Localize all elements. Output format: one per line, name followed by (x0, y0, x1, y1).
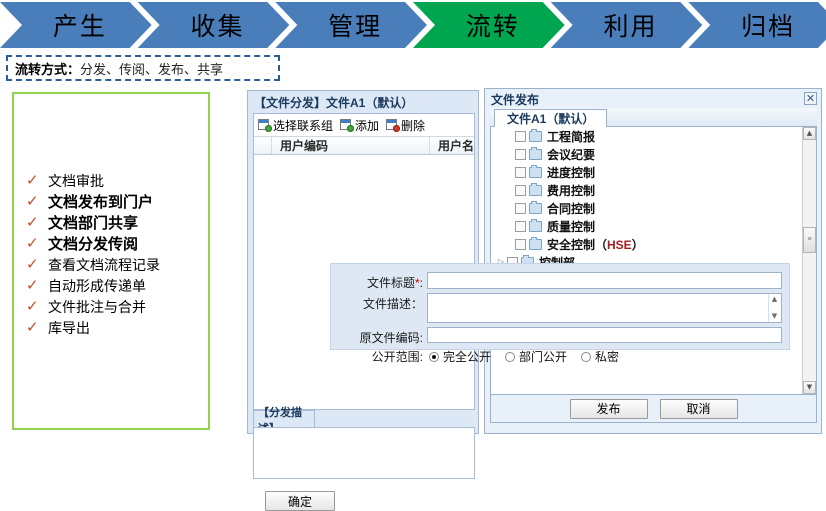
scroll-down-icon[interactable]: ▼ (803, 381, 816, 394)
check-icon: ✓ (26, 173, 48, 188)
source-file-code-label: 原文件编码: (337, 327, 423, 346)
toolbar-add-button[interactable]: 添加 (340, 117, 379, 134)
feature-item: ✓文档发布到门户 (26, 191, 204, 212)
process-step-5[interactable]: 利用 (551, 2, 703, 48)
scope-radio-label: 完全公开 (443, 348, 491, 365)
process-step-label: 归档 (741, 7, 795, 43)
tree-item[interactable]: 质量控制 (491, 217, 802, 235)
process-step-2[interactable]: 收集 (138, 2, 290, 48)
tree-item-label: 安全控制（HSE） (547, 236, 644, 253)
distribution-grid-header: 用户编码 用户名 (254, 136, 474, 155)
delete-icon (386, 119, 399, 131)
check-icon: ✓ (26, 299, 48, 314)
process-step-label: 管理 (328, 7, 382, 43)
process-step-label: 收集 (190, 7, 244, 43)
publish-tab-bar: 文件A1（默认） (490, 108, 817, 127)
close-icon[interactable]: ✕ (804, 92, 817, 105)
tree-item-label: 进度控制 (547, 164, 595, 181)
distribution-body: 选择联系组添加删除 用户编码 用户名 (253, 113, 475, 410)
scroll-up-icon[interactable]: ▲ (803, 127, 816, 140)
toolbar-select-contact-group-button[interactable]: 选择联系组 (258, 117, 333, 134)
distribution-description-label: 【分发描述】 (253, 410, 315, 428)
check-icon: ✓ (26, 320, 48, 335)
distribution-confirm-button[interactable]: 确定 (265, 491, 335, 511)
file-info-form-dialog: 文件标题*: 文件描述： ▲ ▼ 原文件编码: 公开范围: 完全公开部门公开私密 (330, 263, 790, 350)
check-icon: ✓ (26, 236, 48, 251)
toolbar-button-label: 选择联系组 (273, 117, 333, 134)
form-row-source-code: 原文件编码: (337, 327, 782, 346)
tree-item-checkbox[interactable] (515, 149, 526, 160)
process-step-label: 利用 (603, 7, 657, 43)
publish-button[interactable]: 发布 (570, 399, 648, 419)
process-step-3[interactable]: 管理 (275, 2, 427, 48)
tab-file-a1[interactable]: 文件A1（默认） (494, 109, 607, 127)
tree-item[interactable]: 进度控制 (491, 163, 802, 181)
tree-item-checkbox[interactable] (515, 167, 526, 178)
feature-item-label: 文档发布到门户 (48, 191, 153, 212)
tree-item[interactable]: 费用控制 (491, 181, 802, 199)
tree-item-label: 质量控制 (547, 218, 595, 235)
feature-item-label: 文档审批 (48, 171, 104, 191)
scope-radio-option[interactable]: 完全公开 (429, 348, 491, 365)
flow-method-note: 流转方式： 分发、传阅、发布、共享 (6, 55, 280, 81)
select-contact-group-icon (258, 119, 271, 131)
process-step-label: 流转 (466, 7, 520, 43)
folder-icon (529, 167, 542, 178)
file-description-label: 文件描述： (337, 293, 423, 312)
feature-list-box: ✓文档审批✓文档发布到门户✓文档部门共享✓文档分发传阅✓查看文档流程记录✓自动形… (12, 92, 210, 430)
tree-item-checkbox[interactable] (515, 131, 526, 142)
tree-item[interactable]: 安全控制（HSE） (491, 235, 802, 253)
scope-radio-label: 部门公开 (519, 348, 567, 365)
grid-col-user-name: 用户名 (430, 137, 474, 154)
scroll-up-icon[interactable]: ▲ (769, 296, 780, 303)
tree-item-checkbox[interactable] (515, 185, 526, 196)
folder-icon (529, 239, 542, 250)
tree-item-label: 费用控制 (547, 182, 595, 199)
feature-item: ✓查看文档流程记录 (26, 254, 204, 275)
tree-item-label: 合同控制 (547, 200, 595, 217)
feature-list: ✓文档审批✓文档发布到门户✓文档部门共享✓文档分发传阅✓查看文档流程记录✓自动形… (26, 170, 204, 338)
file-title-label: 文件标题*: (337, 272, 423, 291)
form-row-scope: 公开范围: 完全公开部门公开私密 (337, 348, 619, 365)
grid-col-user-code: 用户编码 (272, 137, 430, 154)
tree-item-label: 工程简报 (547, 128, 595, 145)
feature-item: ✓库导出 (26, 317, 204, 338)
feature-item: ✓自动形成传递单 (26, 275, 204, 296)
publish-footer: 发布 取消 (490, 395, 817, 423)
public-scope-label: 公开范围: (337, 348, 423, 365)
file-publish-window: 文件发布 ✕ 文件A1（默认） 工程简报会议纪要进度控制费用控制合同控制质量控制… (484, 88, 822, 434)
radio-icon[interactable] (581, 352, 591, 362)
feature-item-label: 库导出 (48, 318, 90, 338)
tree-item[interactable]: 工程简报 (491, 127, 802, 145)
distribution-description-input[interactable] (253, 427, 475, 479)
folder-icon (529, 131, 542, 142)
scroll-down-icon[interactable]: ▼ (769, 313, 780, 320)
process-step-1[interactable]: 产生 (0, 2, 152, 48)
flow-method-label: 流转方式： (15, 59, 80, 78)
flow-method-value: 分发、传阅、发布、共享 (80, 59, 223, 78)
folder-icon (529, 185, 542, 196)
tree-item[interactable]: 合同控制 (491, 199, 802, 217)
feature-item: ✓文档分发传阅 (26, 233, 204, 254)
feature-item-label: 自动形成传递单 (48, 276, 146, 296)
file-distribution-window: 【文件分发】文件A1（默认） 选择联系组添加删除 用户编码 用户名 【分发描述】… (247, 90, 479, 434)
scope-radio-label: 私密 (595, 348, 619, 365)
feature-item-label: 查看文档流程记录 (48, 255, 160, 275)
radio-icon[interactable] (505, 352, 515, 362)
feature-item-label: 文档部门共享 (48, 212, 138, 233)
check-icon: ✓ (26, 215, 48, 230)
folder-icon (529, 149, 542, 160)
feature-item-label: 文件批注与合并 (48, 297, 146, 317)
distribution-toolbar: 选择联系组添加删除 (254, 114, 474, 134)
public-scope-radio-group: 完全公开部门公开私密 (429, 348, 619, 365)
toolbar-delete-button[interactable]: 删除 (386, 117, 425, 134)
feature-item: ✓文档审批 (26, 170, 204, 191)
publish-window-title: 文件发布 (491, 91, 539, 108)
folder-icon (529, 221, 542, 232)
form-row-title: 文件标题*: (337, 272, 782, 291)
file-title-input[interactable] (427, 272, 782, 289)
scope-radio-option[interactable]: 部门公开 (505, 348, 567, 365)
process-step-label: 产生 (53, 7, 107, 43)
tree-item[interactable]: 会议纪要 (491, 145, 802, 163)
form-row-description: 文件描述： ▲ ▼ (337, 293, 782, 323)
process-step-4[interactable]: 流转 (413, 2, 565, 48)
textarea-scrollbar[interactable]: ▲ ▼ (768, 294, 781, 322)
add-icon (340, 119, 353, 131)
folder-icon (529, 203, 542, 214)
tree-item-checkbox[interactable] (515, 203, 526, 214)
grid-col-select (254, 137, 272, 154)
distribution-window-title: 【文件分发】文件A1（默认） (248, 91, 478, 113)
feature-item: ✓文档部门共享 (26, 212, 204, 233)
file-description-textarea[interactable]: ▲ ▼ (427, 293, 782, 323)
scrollbar-thumb[interactable]: ≡ (803, 227, 816, 253)
process-flow-banner: 产生收集管理流转利用归档 (0, 2, 826, 48)
feature-item: ✓文件批注与合并 (26, 296, 204, 317)
toolbar-button-label: 删除 (401, 117, 425, 134)
check-icon: ✓ (26, 194, 48, 209)
tree-item-checkbox[interactable] (515, 239, 526, 250)
toolbar-button-label: 添加 (355, 117, 379, 134)
scope-radio-option[interactable]: 私密 (581, 348, 619, 365)
check-icon: ✓ (26, 257, 48, 272)
source-file-code-input[interactable] (427, 327, 782, 343)
feature-item-label: 文档分发传阅 (48, 233, 138, 254)
tree-item-label: 会议纪要 (547, 146, 595, 163)
check-icon: ✓ (26, 278, 48, 293)
radio-icon[interactable] (429, 352, 439, 362)
process-step-6[interactable]: 归档 (688, 2, 826, 48)
tree-item-checkbox[interactable] (515, 221, 526, 232)
cancel-button[interactable]: 取消 (660, 399, 738, 419)
publish-tree-scrollbar[interactable]: ▲ ≡ ▼ (802, 127, 816, 394)
